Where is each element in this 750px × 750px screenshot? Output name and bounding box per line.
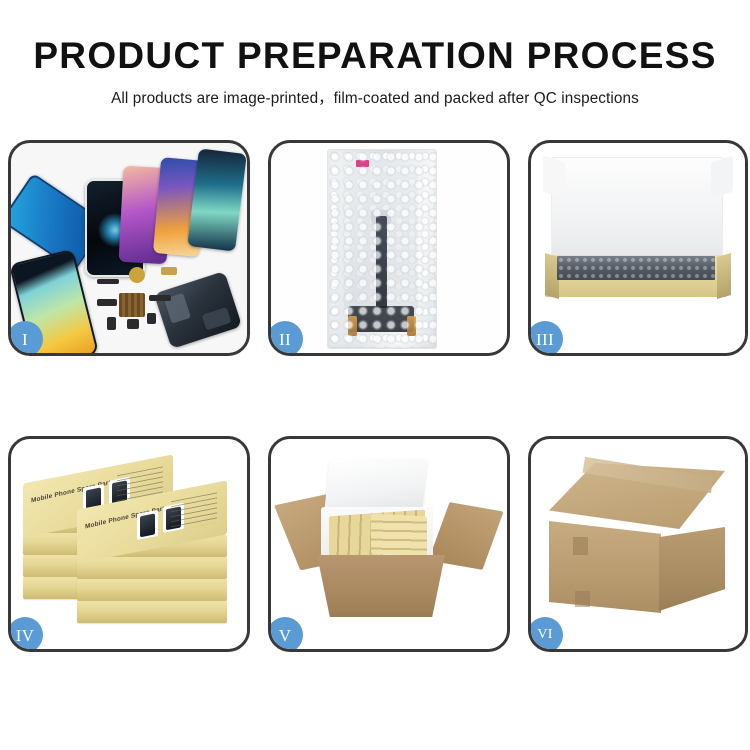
page-subtitle: All products are image-printed，film-coat… [0, 76, 750, 108]
part-logic-board-icon [119, 293, 145, 317]
carton-front-face-icon [549, 521, 661, 613]
retail-box-side [77, 557, 227, 579]
part-battery-icon [147, 313, 156, 324]
retail-boxes-inside-icon [371, 514, 427, 557]
step-badge-4: IV [8, 617, 43, 652]
step-badge-2: II [268, 321, 303, 356]
retail-box-stack: Mobile Phone Spare Parts Mobile Phone Sp… [19, 449, 241, 639]
teal-phone-icon [187, 148, 247, 251]
step-badge-5: V [268, 617, 303, 652]
pink-label-icon [356, 160, 369, 167]
carton-tape-patch-icon [575, 591, 590, 607]
lcd-gold-contact-right-icon [407, 316, 416, 336]
box-lid-flap-right-icon [711, 155, 733, 198]
disassembled-phone-back-icon [154, 271, 242, 349]
retail-box-side [77, 601, 227, 623]
phone-screen-fan [11, 143, 247, 353]
process-step-panel-5[interactable]: V [268, 436, 510, 652]
lcd-gold-contact-left-icon [348, 316, 357, 336]
process-step-panel-3[interactable]: III [528, 140, 748, 356]
part-speaker-icon [127, 319, 139, 329]
box-lid-flap-left-icon [543, 155, 565, 198]
carton-tape-patch-icon [573, 537, 588, 555]
retail-box-side [77, 579, 227, 601]
part-chip-icon [97, 279, 119, 284]
step-3-image [531, 143, 745, 353]
part-ribbon-icon [149, 295, 171, 301]
step-badge-1: I [8, 321, 43, 356]
part-flex-cable-icon [161, 267, 177, 275]
retail-box-phone-image [137, 510, 158, 540]
bubble-wrapped-contents-icon [557, 256, 715, 280]
step-badge-6: VI [528, 617, 563, 652]
lcd-base-board-icon [348, 306, 414, 332]
step-4-image: Mobile Phone Spare Parts Mobile Phone Sp… [11, 439, 247, 649]
foam-lid-icon [324, 459, 427, 511]
part-camera-icon [129, 267, 145, 283]
part-connector-icon [97, 299, 117, 306]
step-2-image [271, 143, 507, 353]
page-header: PRODUCT PREPARATION PROCESS All products… [0, 0, 750, 108]
part-button-icon [107, 317, 116, 330]
step-5-image [271, 439, 507, 649]
bubble-wrap-bag [327, 149, 437, 349]
retail-box-spec-lines [171, 492, 217, 531]
process-step-panel-4[interactable]: Mobile Phone Spare Parts Mobile Phone Sp… [8, 436, 250, 652]
process-step-panel-2[interactable]: II [268, 140, 510, 356]
page-title: PRODUCT PREPARATION PROCESS [0, 0, 750, 76]
open-carton-icon [317, 555, 445, 617]
process-step-panel-6[interactable]: VI [528, 436, 748, 652]
carton-side-face-icon [659, 527, 725, 611]
process-step-panel-1[interactable]: I [8, 140, 250, 356]
step-6-image [531, 439, 745, 649]
kraft-box-end-right-icon [717, 253, 731, 299]
lcd-flex-cable-icon [376, 216, 387, 308]
step-badge-3: III [528, 321, 563, 356]
step-1-image [11, 143, 247, 353]
box-lid-icon [551, 157, 723, 263]
process-step-grid: I II III [8, 140, 748, 686]
